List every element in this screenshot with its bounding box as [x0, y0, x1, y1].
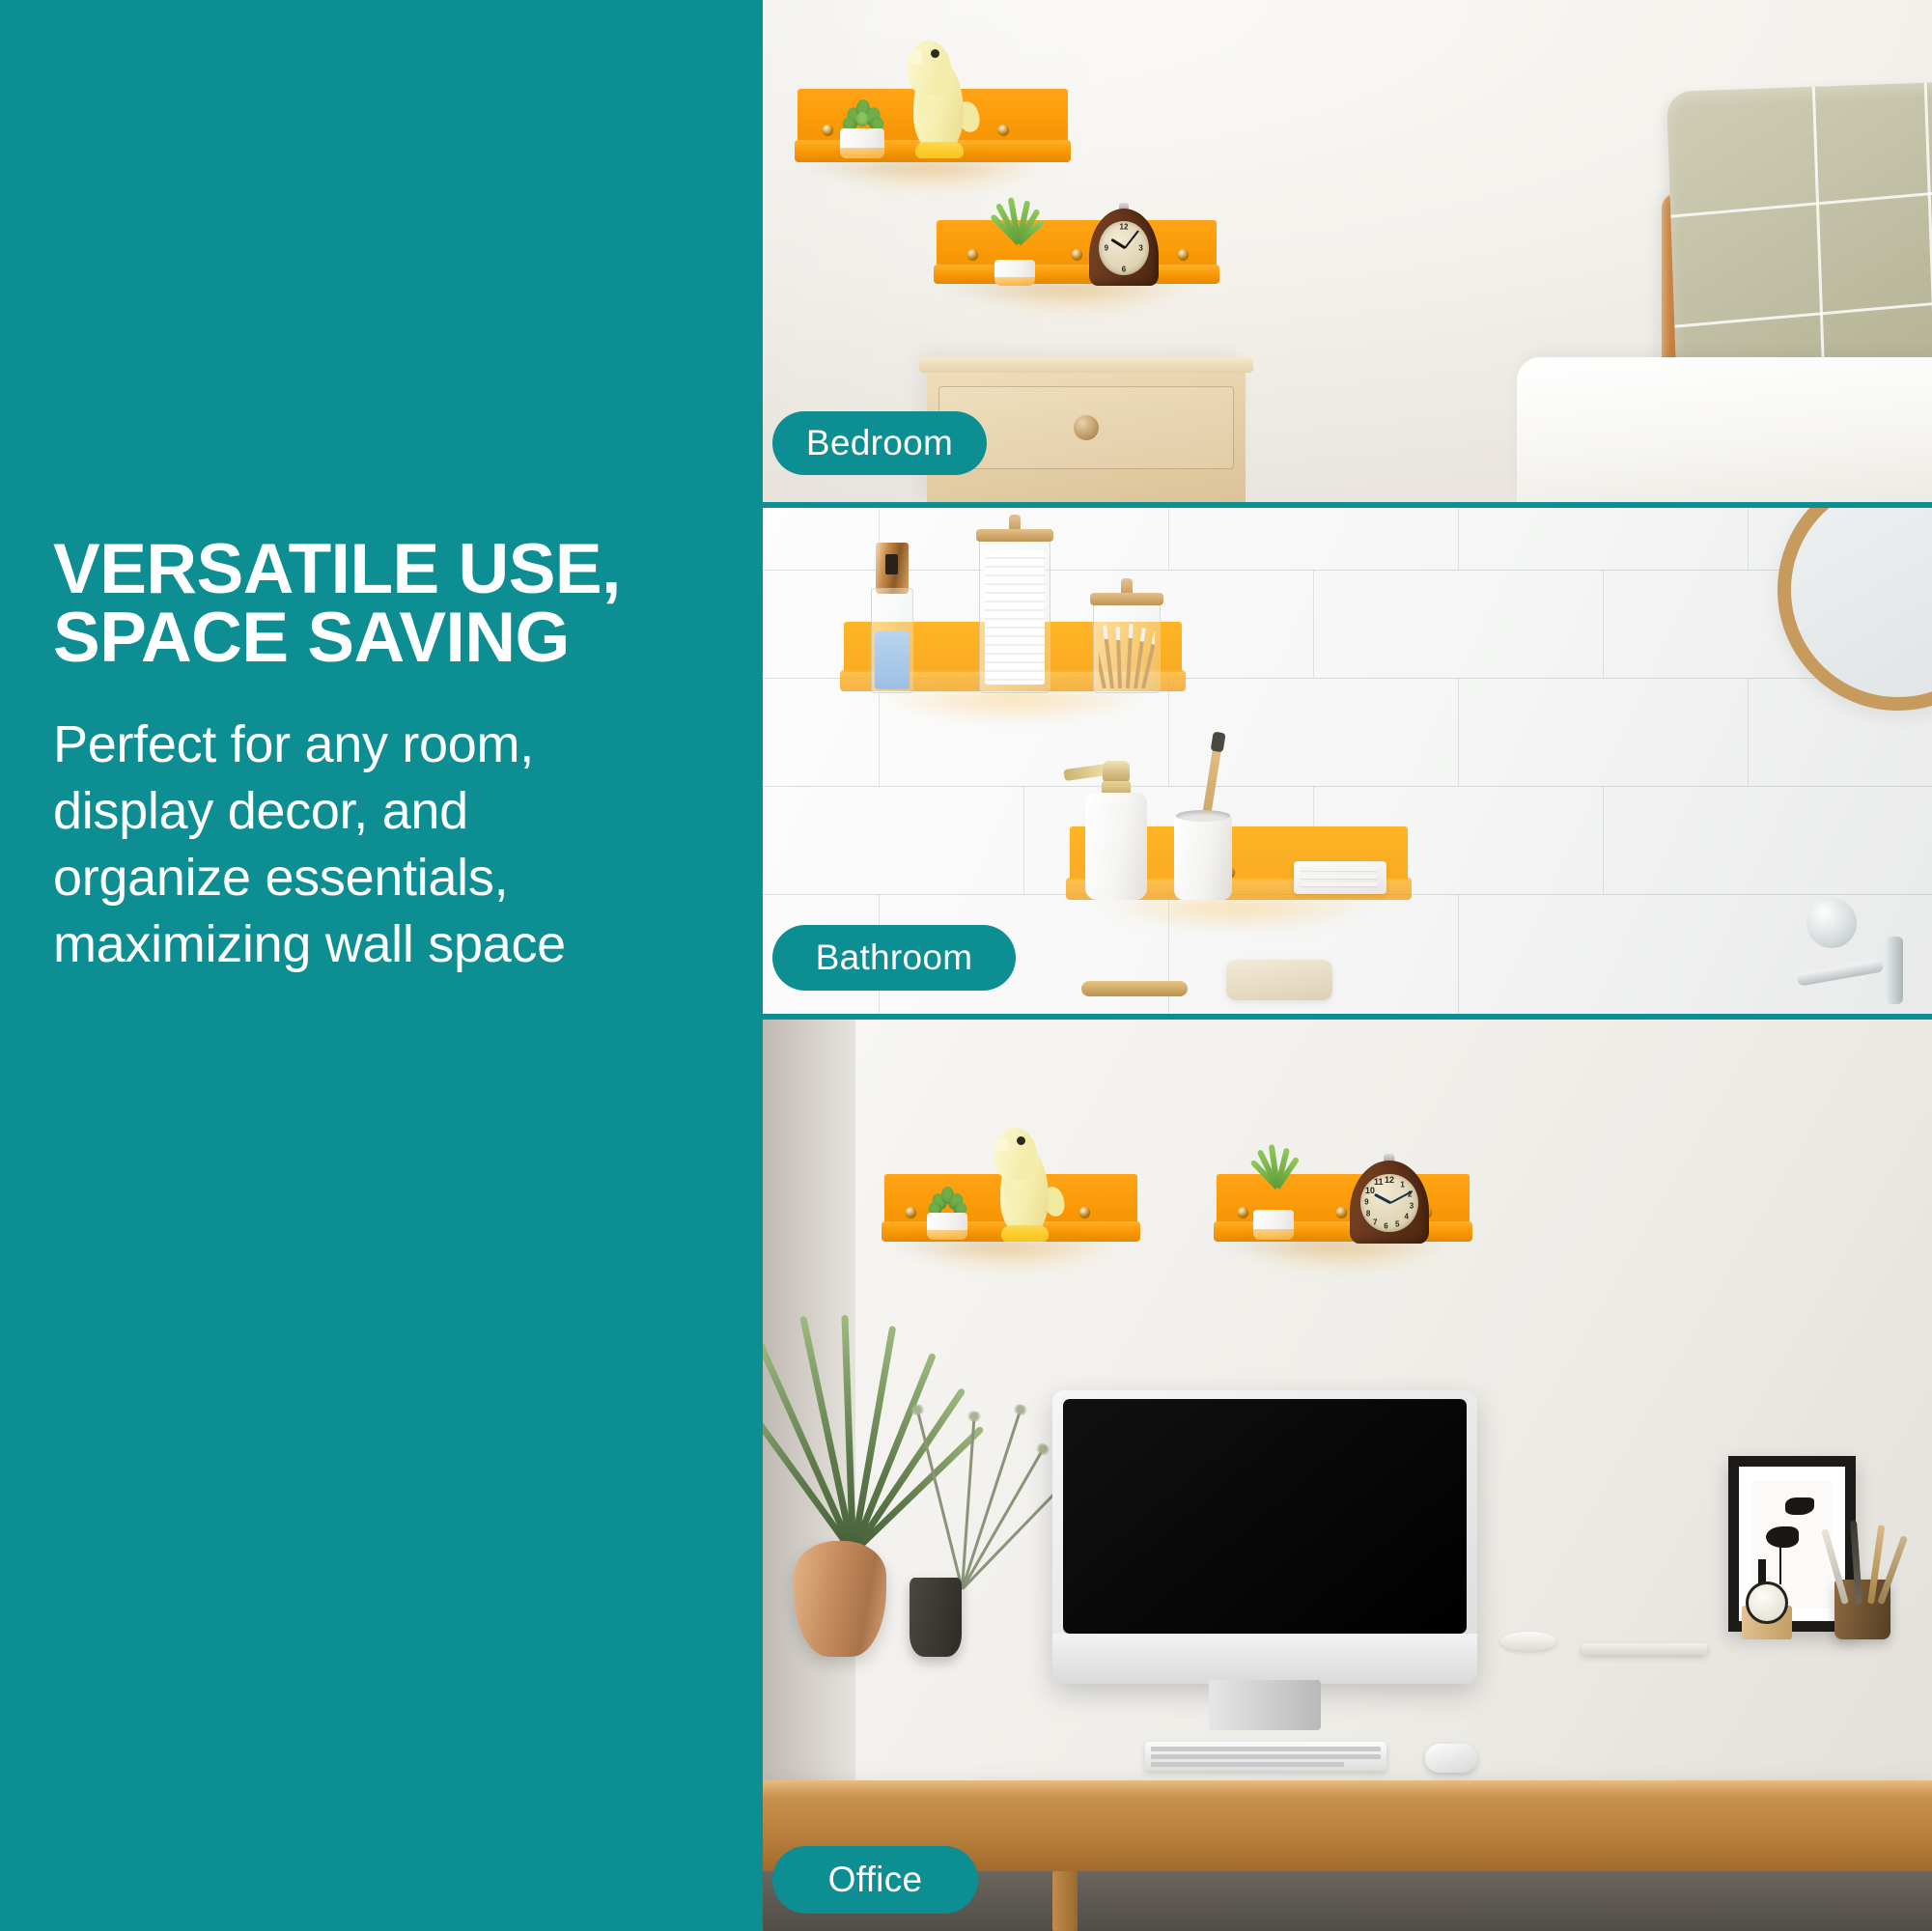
nightstand-knob: [1074, 415, 1099, 440]
notebook: [1582, 1643, 1707, 1655]
clock-minute-hand: [1124, 230, 1139, 248]
dino-feet: [1001, 1225, 1049, 1242]
wireless-mouse[interactable]: [1425, 1744, 1477, 1773]
shelf-screw: [1178, 249, 1189, 260]
white-pot: [927, 1213, 967, 1240]
clock-face: 12 3 6 9: [1099, 221, 1149, 275]
dino-snout: [994, 1138, 1008, 1151]
dinosaur-night-light: [991, 1128, 1058, 1242]
cotton-swab-glass-jar: [1093, 602, 1161, 693]
panel-bathroom: Bathroom: [763, 508, 1932, 1014]
wireless-keyboard[interactable]: [1145, 1742, 1386, 1771]
all-in-one-monitor: [1052, 1390, 1477, 1684]
white-bedding: [1517, 357, 1932, 502]
clock-hour-hand: [1374, 1193, 1391, 1205]
jar-wood-lid: [1090, 593, 1163, 605]
dino-arm: [1004, 1178, 1015, 1201]
spider-plant-in-white-pot: [1253, 1186, 1294, 1240]
shelf-screw: [823, 125, 833, 135]
clock-dial: [1746, 1581, 1788, 1624]
panel-label-office: Office: [772, 1846, 978, 1914]
shelf-screw: [906, 1207, 916, 1217]
spider-plant-leaves: [989, 201, 1043, 243]
pillow-grid-line: [1923, 83, 1932, 373]
tumbler-rim: [1176, 810, 1229, 822]
chrome-faucet: [1778, 898, 1913, 1004]
jar-wood-lid: [976, 529, 1054, 542]
cotton-swabs: [1099, 621, 1154, 688]
page-title: VERSATILE USE, SPACE SAVING: [53, 536, 729, 673]
white-pot: [840, 128, 884, 158]
vintage-alarm-clock: 12 3 6 9: [1089, 209, 1159, 286]
shelf-shadow: [1226, 1241, 1464, 1266]
pillow-grid-line: [1812, 87, 1825, 377]
soap-bar: [1226, 960, 1332, 1000]
faucet-spout: [1797, 959, 1885, 986]
shelf-shadow: [894, 1241, 1132, 1266]
shelf-screw: [1336, 1207, 1347, 1217]
panel-office: 12 1 2 3 4 5 6 7 8 9 10 11: [763, 1020, 1932, 1931]
panel-bedroom: 12 3 6 9 Bedroom: [763, 0, 1932, 502]
dino-head: [994, 1128, 1036, 1180]
dino-eye: [931, 49, 939, 58]
white-soap-dispenser: [1085, 755, 1147, 900]
art-motif: [1779, 1544, 1781, 1584]
panel-label-bathroom: Bathroom: [772, 925, 1016, 991]
dino-head: [908, 41, 951, 95]
dried-flower-stems: [888, 1402, 1033, 1589]
clock-face: 12 1 2 3 4 5 6 7 8 9 10 11: [1360, 1174, 1417, 1232]
bottle-glass: [871, 588, 913, 693]
shelf-shadow: [948, 283, 1212, 308]
art-motif: [1766, 1526, 1799, 1548]
art-motif: [1785, 1497, 1814, 1515]
page-subtitle: Perfect for any room, display decor, and…: [53, 712, 729, 978]
white-pot: [1253, 1210, 1294, 1240]
bottle-liquid: [875, 631, 910, 689]
spider-plant-leaves: [1249, 1147, 1300, 1188]
succulent-in-white-pot: [840, 104, 884, 158]
shelf-glow: [1077, 900, 1401, 944]
bottle-copper-cap: [876, 543, 908, 594]
desk-leg: [1052, 1871, 1078, 1931]
shelf-shadow: [808, 161, 1062, 186]
copper-vase-with-eucalyptus: [794, 1541, 886, 1657]
sage-grid-pillow: [1666, 82, 1932, 381]
dispenser-bottle: [1085, 793, 1147, 900]
monitor-chin: [1052, 1634, 1477, 1684]
succulent-leaves: [840, 94, 884, 131]
wooden-pencil-cup: [1834, 1580, 1890, 1639]
brass-towel-hook: [1081, 981, 1188, 996]
white-ribbed-soap-dish: [1294, 861, 1386, 894]
dino-eye: [1017, 1136, 1025, 1145]
shelf-lip: [934, 265, 1220, 284]
dinosaur-night-light: [904, 41, 973, 158]
pillow-grid-line: [1670, 190, 1932, 217]
succulent-leaves: [927, 1182, 967, 1216]
shelf-screw: [1238, 1207, 1248, 1217]
monitor-screen[interactable]: [1063, 1399, 1466, 1634]
left-text-panel: VERSATILE USE, SPACE SAVING Perfect for …: [0, 0, 763, 1931]
white-tumbler-with-bamboo-toothbrush: [1174, 813, 1232, 900]
tumbler-cup: [1174, 813, 1232, 900]
shelf-screw: [1079, 1207, 1090, 1217]
photo-column: 12 3 6 9 Bedroom: [763, 0, 1932, 1931]
orange-floating-shelf-lower: [937, 220, 1217, 284]
shelf-screw: [998, 125, 1009, 135]
coaster: [1500, 1632, 1556, 1651]
copper-top-spray-bottle: [871, 543, 913, 693]
product-feature-poster: VERSATILE USE, SPACE SAVING Perfect for …: [0, 0, 1932, 1931]
cotton-pads: [985, 550, 1045, 685]
shelf-glow: [851, 691, 1175, 736]
wooden-desk-clock: [1742, 1581, 1792, 1639]
panel-label-bedroom: Bedroom: [772, 411, 987, 475]
shelf-screw: [1072, 249, 1082, 260]
pillow-grid-line: [1674, 300, 1932, 327]
dino-snout: [908, 51, 921, 64]
desk-edge: [763, 1780, 1932, 1796]
shelf-screw: [967, 249, 978, 260]
dino-arm: [917, 93, 929, 116]
spider-plant-in-white-pot: [994, 239, 1035, 286]
black-vase-with-dried-flowers: [910, 1578, 962, 1657]
faucet-handle: [1806, 898, 1857, 948]
faucet-stem: [1886, 937, 1903, 1004]
dino-feet: [915, 142, 964, 158]
succulent-in-white-pot: [927, 1191, 967, 1240]
monitor-stand: [1209, 1680, 1321, 1730]
nightstand-top: [919, 357, 1253, 373]
white-pot: [994, 260, 1035, 286]
vintage-alarm-clock: 12 1 2 3 4 5 6 7 8 9 10 11: [1350, 1161, 1429, 1244]
copy-block: VERSATILE USE, SPACE SAVING Perfect for …: [53, 536, 729, 978]
cotton-pad-glass-jar: [979, 539, 1050, 693]
